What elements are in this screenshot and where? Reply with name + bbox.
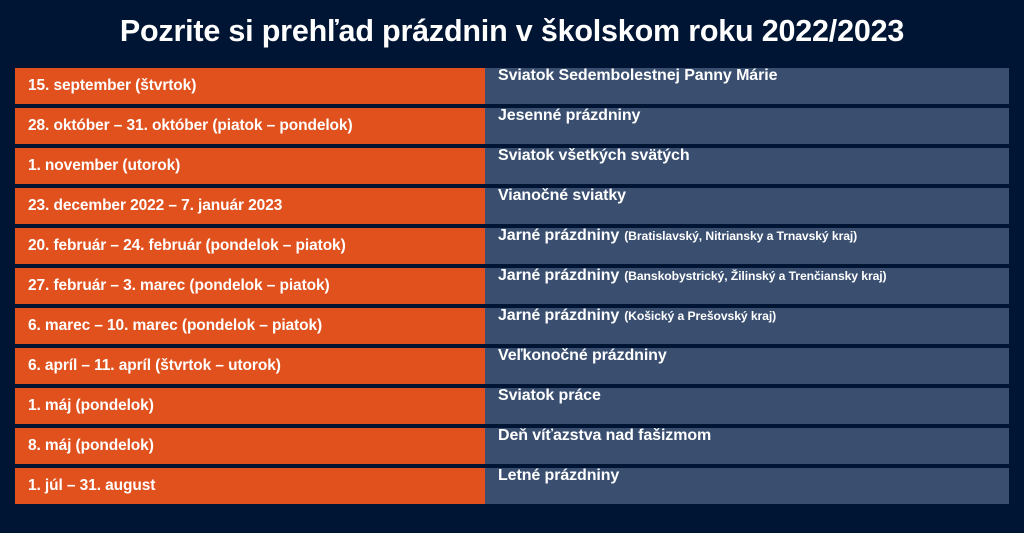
- holiday-name-cell: Letné prázdniny: [482, 468, 1009, 504]
- holiday-name-label: Letné prázdniny: [498, 468, 619, 484]
- holiday-date-label: 1. máj (pondelok): [28, 398, 154, 414]
- holiday-name-label: Vianočné sviatky: [498, 188, 626, 204]
- holiday-name-cell: Jarné prázdniny(Banskobystrický, Žilinsk…: [482, 268, 1009, 304]
- holiday-date-cell: 6. apríl – 11. apríl (štvrtok – utorok): [15, 348, 482, 384]
- holiday-name-label: Sviatok Sedembolestnej Panny Márie: [498, 68, 777, 84]
- title-bar: Pozrite si prehľad prázdnin v školskom r…: [0, 0, 1024, 68]
- holiday-date-cell: 28. október – 31. október (piatok – pond…: [15, 108, 482, 144]
- table-row: 1. november (utorok)Sviatok všetkých svä…: [15, 148, 1009, 184]
- holiday-name-label: Jarné prázdniny: [498, 268, 619, 284]
- holiday-date-label: 23. december 2022 – 7. január 2023: [28, 198, 282, 214]
- holiday-name-label: Jarné prázdniny: [498, 228, 619, 244]
- holiday-date-label: 15. september (štvrtok): [28, 78, 196, 94]
- holiday-date-cell: 27. február – 3. marec (pondelok – piato…: [15, 268, 482, 304]
- holiday-overview-graphic: Pozrite si prehľad prázdnin v školskom r…: [0, 0, 1024, 533]
- holiday-name-cell: Vianočné sviatky: [482, 188, 1009, 224]
- holiday-name-label: Deň víťazstva nad fašizmom: [498, 428, 711, 444]
- holiday-date-cell: 15. september (štvrtok): [15, 68, 482, 104]
- holiday-date-label: 1. november (utorok): [28, 158, 180, 174]
- holiday-date-label: 6. apríl – 11. apríl (štvrtok – utorok): [28, 358, 281, 374]
- holiday-date-label: 1. júl – 31. august: [28, 478, 155, 494]
- holiday-name-label: Veľkonočné prázdniny: [498, 348, 667, 364]
- holiday-name-label: Sviatok práce: [498, 388, 601, 404]
- table-row: 28. október – 31. október (piatok – pond…: [15, 108, 1009, 144]
- table-row: 15. september (štvrtok)Sviatok Sedembole…: [15, 68, 1009, 104]
- holiday-name-label: Jesenné prázdniny: [498, 108, 640, 124]
- holiday-table: 15. september (štvrtok)Sviatok Sedembole…: [0, 68, 1024, 504]
- holiday-name-label: Sviatok všetkých svätých: [498, 148, 690, 164]
- holiday-name-cell: Jarné prázdniny(Košický a Prešovský kraj…: [482, 308, 1009, 344]
- holiday-date-label: 8. máj (pondelok): [28, 438, 154, 454]
- table-row: 1. máj (pondelok)Sviatok práce: [15, 388, 1009, 424]
- holiday-name-cell: Sviatok Sedembolestnej Panny Márie: [482, 68, 1009, 104]
- holiday-region-note: (Košický a Prešovský kraj): [624, 310, 776, 322]
- holiday-name-cell: Deň víťazstva nad fašizmom: [482, 428, 1009, 464]
- holiday-date-cell: 1. júl – 31. august: [15, 468, 482, 504]
- holiday-date-label: 27. február – 3. marec (pondelok – piato…: [28, 278, 330, 294]
- holiday-date-cell: 23. december 2022 – 7. január 2023: [15, 188, 482, 224]
- holiday-name-cell: Jesenné prázdniny: [482, 108, 1009, 144]
- table-row: 1. júl – 31. augustLetné prázdniny: [15, 468, 1009, 504]
- holiday-date-cell: 20. február – 24. február (pondelok – pi…: [15, 228, 482, 264]
- table-row: 23. december 2022 – 7. január 2023Vianoč…: [15, 188, 1009, 224]
- holiday-date-cell: 6. marec – 10. marec (pondelok – piatok): [15, 308, 482, 344]
- holiday-name-cell: Jarné prázdniny(Bratislavský, Nitriansky…: [482, 228, 1009, 264]
- holiday-date-cell: 1. máj (pondelok): [15, 388, 482, 424]
- table-row: 27. február – 3. marec (pondelok – piato…: [15, 268, 1009, 304]
- holiday-date-label: 6. marec – 10. marec (pondelok – piatok): [28, 318, 322, 334]
- page-title: Pozrite si prehľad prázdnin v školskom r…: [120, 16, 904, 47]
- holiday-name-cell: Veľkonočné prázdniny: [482, 348, 1009, 384]
- holiday-date-label: 20. február – 24. február (pondelok – pi…: [28, 238, 346, 254]
- table-row: 8. máj (pondelok)Deň víťazstva nad fašiz…: [15, 428, 1009, 464]
- holiday-date-cell: 1. november (utorok): [15, 148, 482, 184]
- table-row: 6. marec – 10. marec (pondelok – piatok)…: [15, 308, 1009, 344]
- holiday-name-cell: Sviatok všetkých svätých: [482, 148, 1009, 184]
- holiday-name-label: Jarné prázdniny: [498, 308, 619, 324]
- holiday-date-cell: 8. máj (pondelok): [15, 428, 482, 464]
- holiday-region-note: (Banskobystrický, Žilinský a Trenčiansky…: [624, 270, 886, 282]
- holiday-region-note: (Bratislavský, Nitriansky a Trnavský kra…: [624, 230, 857, 242]
- holiday-date-label: 28. október – 31. október (piatok – pond…: [28, 118, 353, 134]
- table-row: 20. február – 24. február (pondelok – pi…: [15, 228, 1009, 264]
- holiday-name-cell: Sviatok práce: [482, 388, 1009, 424]
- table-row: 6. apríl – 11. apríl (štvrtok – utorok)V…: [15, 348, 1009, 384]
